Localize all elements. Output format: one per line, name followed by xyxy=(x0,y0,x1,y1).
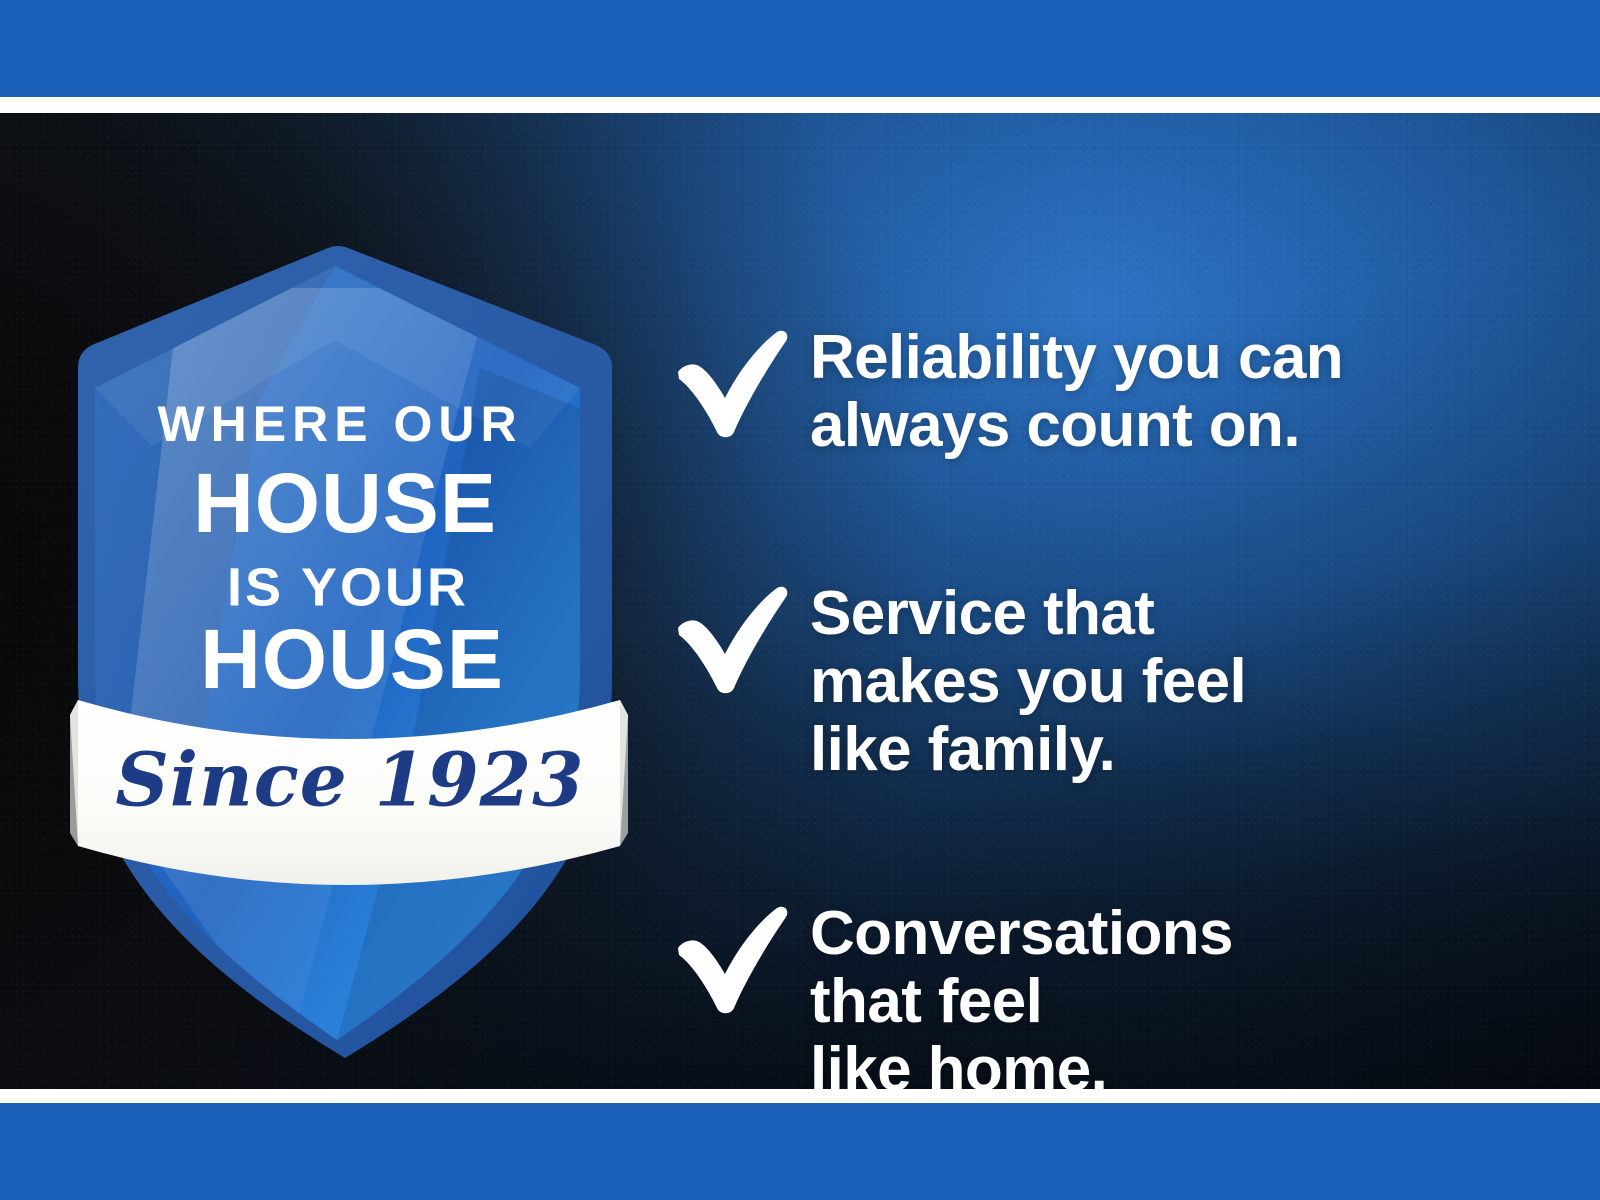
check-mark-icon xyxy=(668,904,792,1016)
emblem-banner-text: Since 1923 xyxy=(115,738,584,824)
bottom-divider xyxy=(0,1089,1600,1103)
benefit-item-service: Service that makes you feel like family. xyxy=(668,578,1246,785)
benefit-text: Conversations that feel like home. xyxy=(810,898,1233,1089)
benefits-list: Reliability you can always count on. Ser… xyxy=(668,226,1568,1089)
emblem-line-1: WHERE OUR xyxy=(157,396,522,452)
emblem-line-4: HOUSE xyxy=(200,612,504,706)
benefit-text: Service that makes you feel like family. xyxy=(810,578,1246,785)
benefit-item-conversations: Conversations that feel like home. xyxy=(668,898,1233,1089)
emblem-line-3: IS YOUR xyxy=(227,557,469,617)
benefit-text: Reliability you can always count on. xyxy=(810,322,1343,460)
benefit-item-reliability: Reliability you can always count on. xyxy=(668,322,1343,460)
emblem-banner-fold-left xyxy=(70,700,78,846)
emblem-line-2: HOUSE xyxy=(193,456,497,550)
bottom-brand-bar xyxy=(0,1103,1600,1200)
top-divider xyxy=(0,97,1600,113)
company-shield-emblem: WHERE OUR HOUSE IS YOUR HOUSE Since 1923 xyxy=(60,248,630,1058)
poster-stage: WHERE OUR HOUSE IS YOUR HOUSE Since 1923 xyxy=(0,113,1600,1089)
promo-poster: WHERE OUR HOUSE IS YOUR HOUSE Since 1923 xyxy=(0,0,1600,1200)
emblem-banner-fold-right xyxy=(620,700,628,846)
check-mark-icon xyxy=(668,328,792,440)
check-mark-icon xyxy=(668,584,792,696)
top-brand-bar xyxy=(0,0,1600,97)
